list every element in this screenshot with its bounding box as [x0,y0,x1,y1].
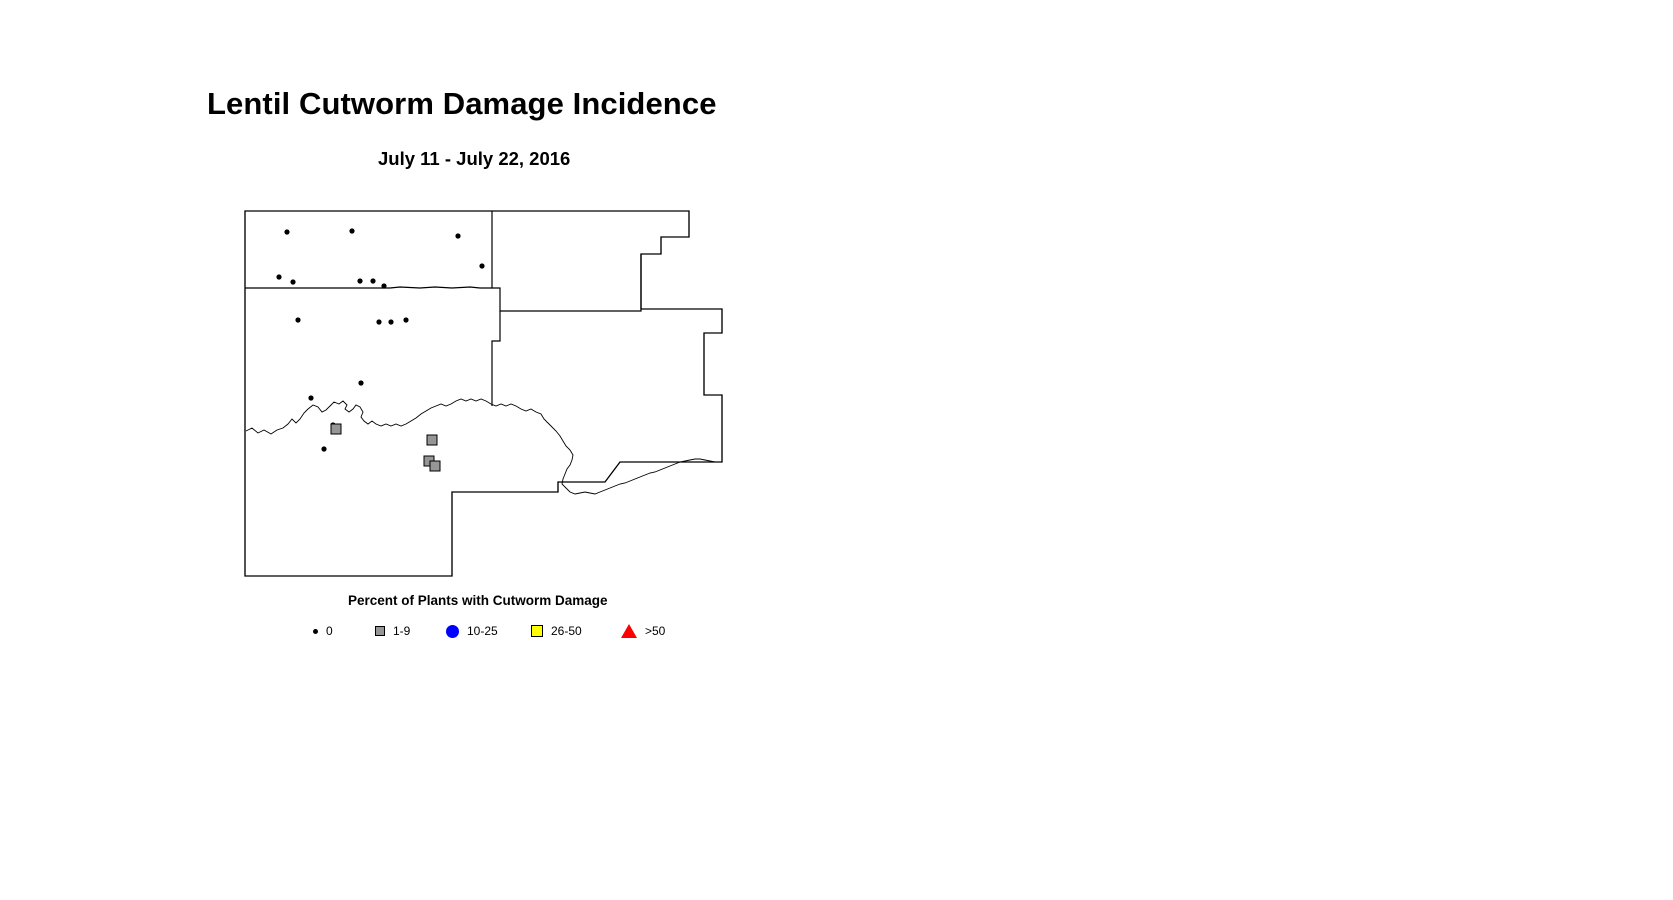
sample-point-1-9[interactable] [331,424,341,434]
legend-entry-10-25[interactable]: 10-25 [446,622,498,640]
legend-label-gt50: >50 [645,625,665,637]
legend-label-0: 0 [326,625,333,637]
legend-blue-circle-icon [446,625,459,638]
sample-point-1-9[interactable] [430,461,440,471]
legend-entry-gt50[interactable]: >50 [621,622,665,640]
sample-point-0[interactable] [370,278,375,283]
sample-point-0[interactable] [388,319,393,324]
legend-label-1-9: 1-9 [393,625,410,637]
map-graphic [0,0,1673,900]
legend-red-triangle-icon [621,624,637,638]
legend-yellow-square-icon [531,625,543,637]
legend-title: Percent of Plants with Cutworm Damage [348,594,608,608]
sample-point-0[interactable] [349,228,354,233]
sample-point-0[interactable] [276,274,281,279]
sample-point-0[interactable] [376,319,381,324]
legend-gray-square-icon [375,626,385,636]
sample-point-0[interactable] [357,278,362,283]
sample-point-0[interactable] [290,279,295,284]
sample-point-0[interactable] [321,446,326,451]
legend-label-10-25: 10-25 [467,625,498,637]
legend-row: 0 1-9 10-25 26-50 >50 [313,622,733,640]
sample-point-1-9[interactable] [427,435,437,445]
sample-point-0[interactable] [455,233,460,238]
sample-point-0[interactable] [284,229,289,234]
sample-point-0[interactable] [479,263,484,268]
sample-point-0[interactable] [308,395,313,400]
legend-entry-0[interactable]: 0 [313,622,333,640]
legend-entry-26-50[interactable]: 26-50 [531,622,582,640]
sample-point-0[interactable] [381,283,386,288]
legend-entry-1-9[interactable]: 1-9 [375,622,410,640]
figure-canvas: Lentil Cutworm Damage Incidence July 11 … [0,0,1673,900]
sample-point-0[interactable] [358,380,363,385]
sample-point-0[interactable] [403,317,408,322]
legend-label-26-50: 26-50 [551,625,582,637]
legend-dot-icon [313,629,318,634]
sample-point-0[interactable] [295,317,300,322]
